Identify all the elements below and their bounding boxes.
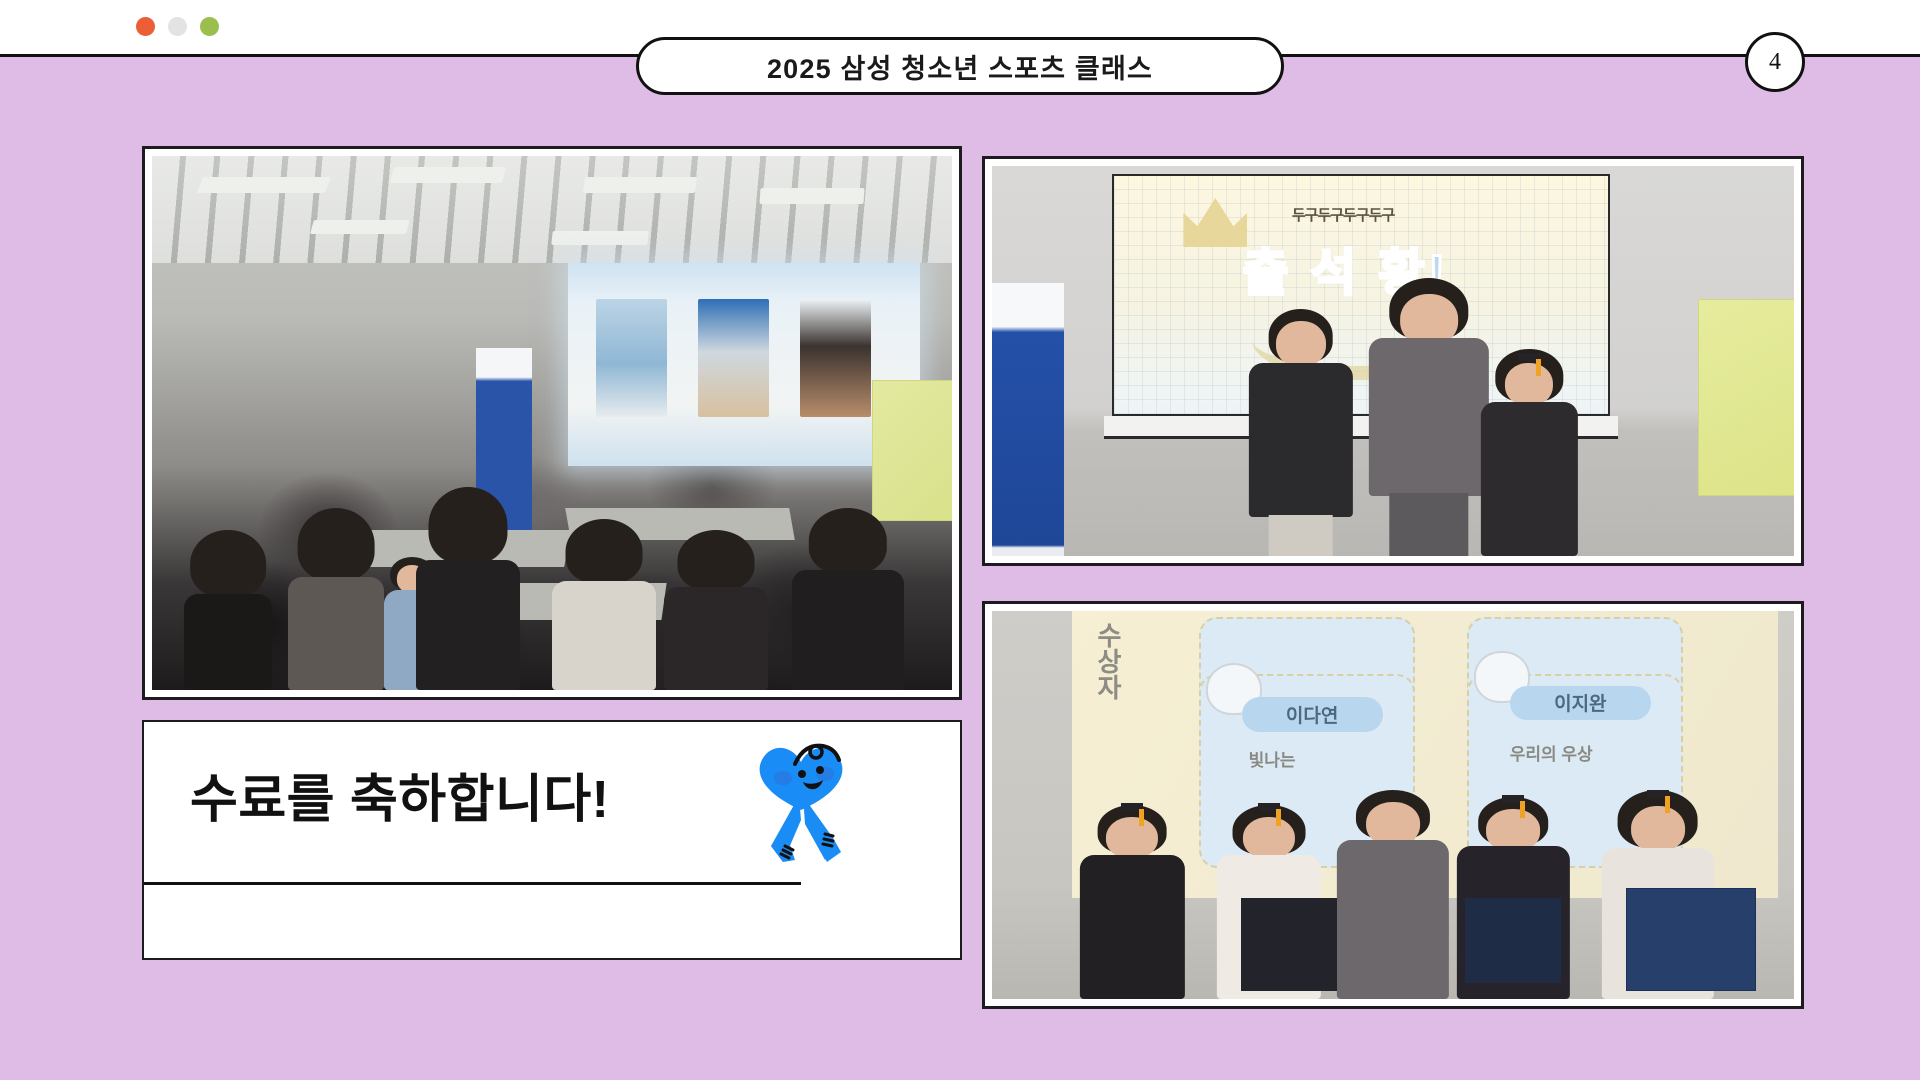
ceiling-light [390,167,506,183]
graduation-cap-icon [1647,790,1669,798]
graduation-cap-icon [1518,353,1540,361]
ceiling-light [310,220,410,234]
screen-card [698,299,768,417]
caption-text: 수료를 축하합니다! [190,757,609,832]
wall-poster [1698,299,1794,496]
student-silhouette [184,530,272,690]
photo-frame-classroom[interactable] [142,146,962,700]
teacher-center [1337,789,1449,999]
maximize-dot[interactable] [200,17,219,36]
ceiling-light [583,177,697,193]
screen-subtext: 두구두구두구두구 [1292,204,1394,225]
graduation-cap-icon [1258,803,1280,811]
minimize-dot[interactable] [168,17,187,36]
slide-canvas: 2025 삼성 청소년 스포츠 클래스 4 [0,0,1920,1080]
student-silhouette [552,519,656,690]
caption-divider [144,882,801,885]
certificate-folder [1626,888,1756,991]
page-title: 2025 삼성 청소년 스포츠 클래스 [767,47,1153,86]
student-left [1249,314,1353,556]
winner-name: 이지완 [1510,686,1651,720]
graduation-cap-icon [1502,795,1524,803]
ceiling [152,156,952,263]
certificate-folder [1241,898,1337,991]
winner-caption: 빛나는 [1249,746,1296,771]
wall-poster [872,380,952,521]
caption-card: 수료를 축하합니다! [142,720,962,960]
projector-screen [568,263,920,466]
close-dot[interactable] [136,17,155,36]
winner-name: 이다연 [1242,697,1383,731]
student-silhouette [664,530,768,690]
screen-card [800,299,870,417]
photo-classroom-presentation [152,156,952,690]
ceiling-light [197,177,331,193]
slide-title-pill: 2025 삼성 청소년 스포츠 클래스 [636,37,1284,95]
slide-body: 두구두구두구두구 출 석 황! [0,56,1920,1080]
photo-frame-awards[interactable]: 수상자 이다연 이지완 빛나는 우리의 우상 [982,601,1804,1009]
screen-card [596,299,666,417]
photo-award-winners: 수상자 이다연 이지완 빛나는 우리의 우상 [992,611,1794,999]
roll-up-banner [992,283,1064,556]
photo-attendance-king-award: 두구두구두구두구 출 석 황! [992,166,1794,556]
certificate-folder [1465,898,1561,983]
page-number-badge: 4 [1745,32,1805,92]
student-silhouette [792,508,904,690]
photo-frame-attendance[interactable]: 두구두구두구두구 출 석 황! [982,156,1804,566]
ceiling-light [551,231,648,245]
ceiling-light [759,188,864,204]
winner-1 [1080,805,1184,999]
page-number: 4 [1769,49,1781,76]
student-silhouette [416,487,520,690]
screen-vertical-label: 수상자 [1090,622,1125,700]
samsung-blue-mascot-icon [749,734,853,870]
teacher-center [1369,283,1489,556]
student-right [1481,353,1577,556]
graduation-cap-icon [1121,803,1143,811]
window-controls[interactable] [136,17,219,36]
student-silhouette [288,508,384,690]
winner-caption: 우리의 우상 [1510,740,1593,765]
